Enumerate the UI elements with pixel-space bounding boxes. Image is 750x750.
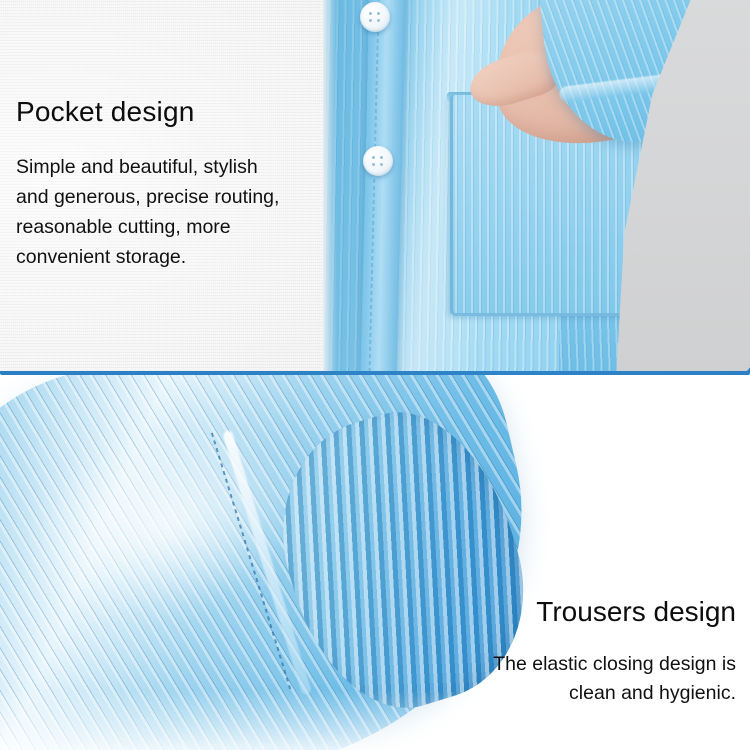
description-line: convenient storage. <box>16 242 336 272</box>
description-line: Simple and beautiful, stylish <box>16 152 336 182</box>
trousers-design-description: The elastic closing design is clean and … <box>396 650 736 708</box>
description-line: reasonable cutting, more <box>16 212 336 242</box>
description-line: and generous, precise routing, <box>16 182 336 212</box>
trousers-design-heading: Trousers design <box>536 596 736 628</box>
pocket-design-panel: Pocket design Simple and beautiful, styl… <box>0 0 750 373</box>
description-line: The elastic closing design is <box>396 650 736 679</box>
product-feature-image: Pocket design Simple and beautiful, styl… <box>0 0 750 750</box>
shirt-button <box>363 146 393 176</box>
shirt-button <box>360 2 390 32</box>
description-line: clean and hygienic. <box>396 679 736 708</box>
pocket-design-description: Simple and beautiful, stylish and genero… <box>16 152 336 272</box>
pocket-design-heading: Pocket design <box>16 96 195 128</box>
